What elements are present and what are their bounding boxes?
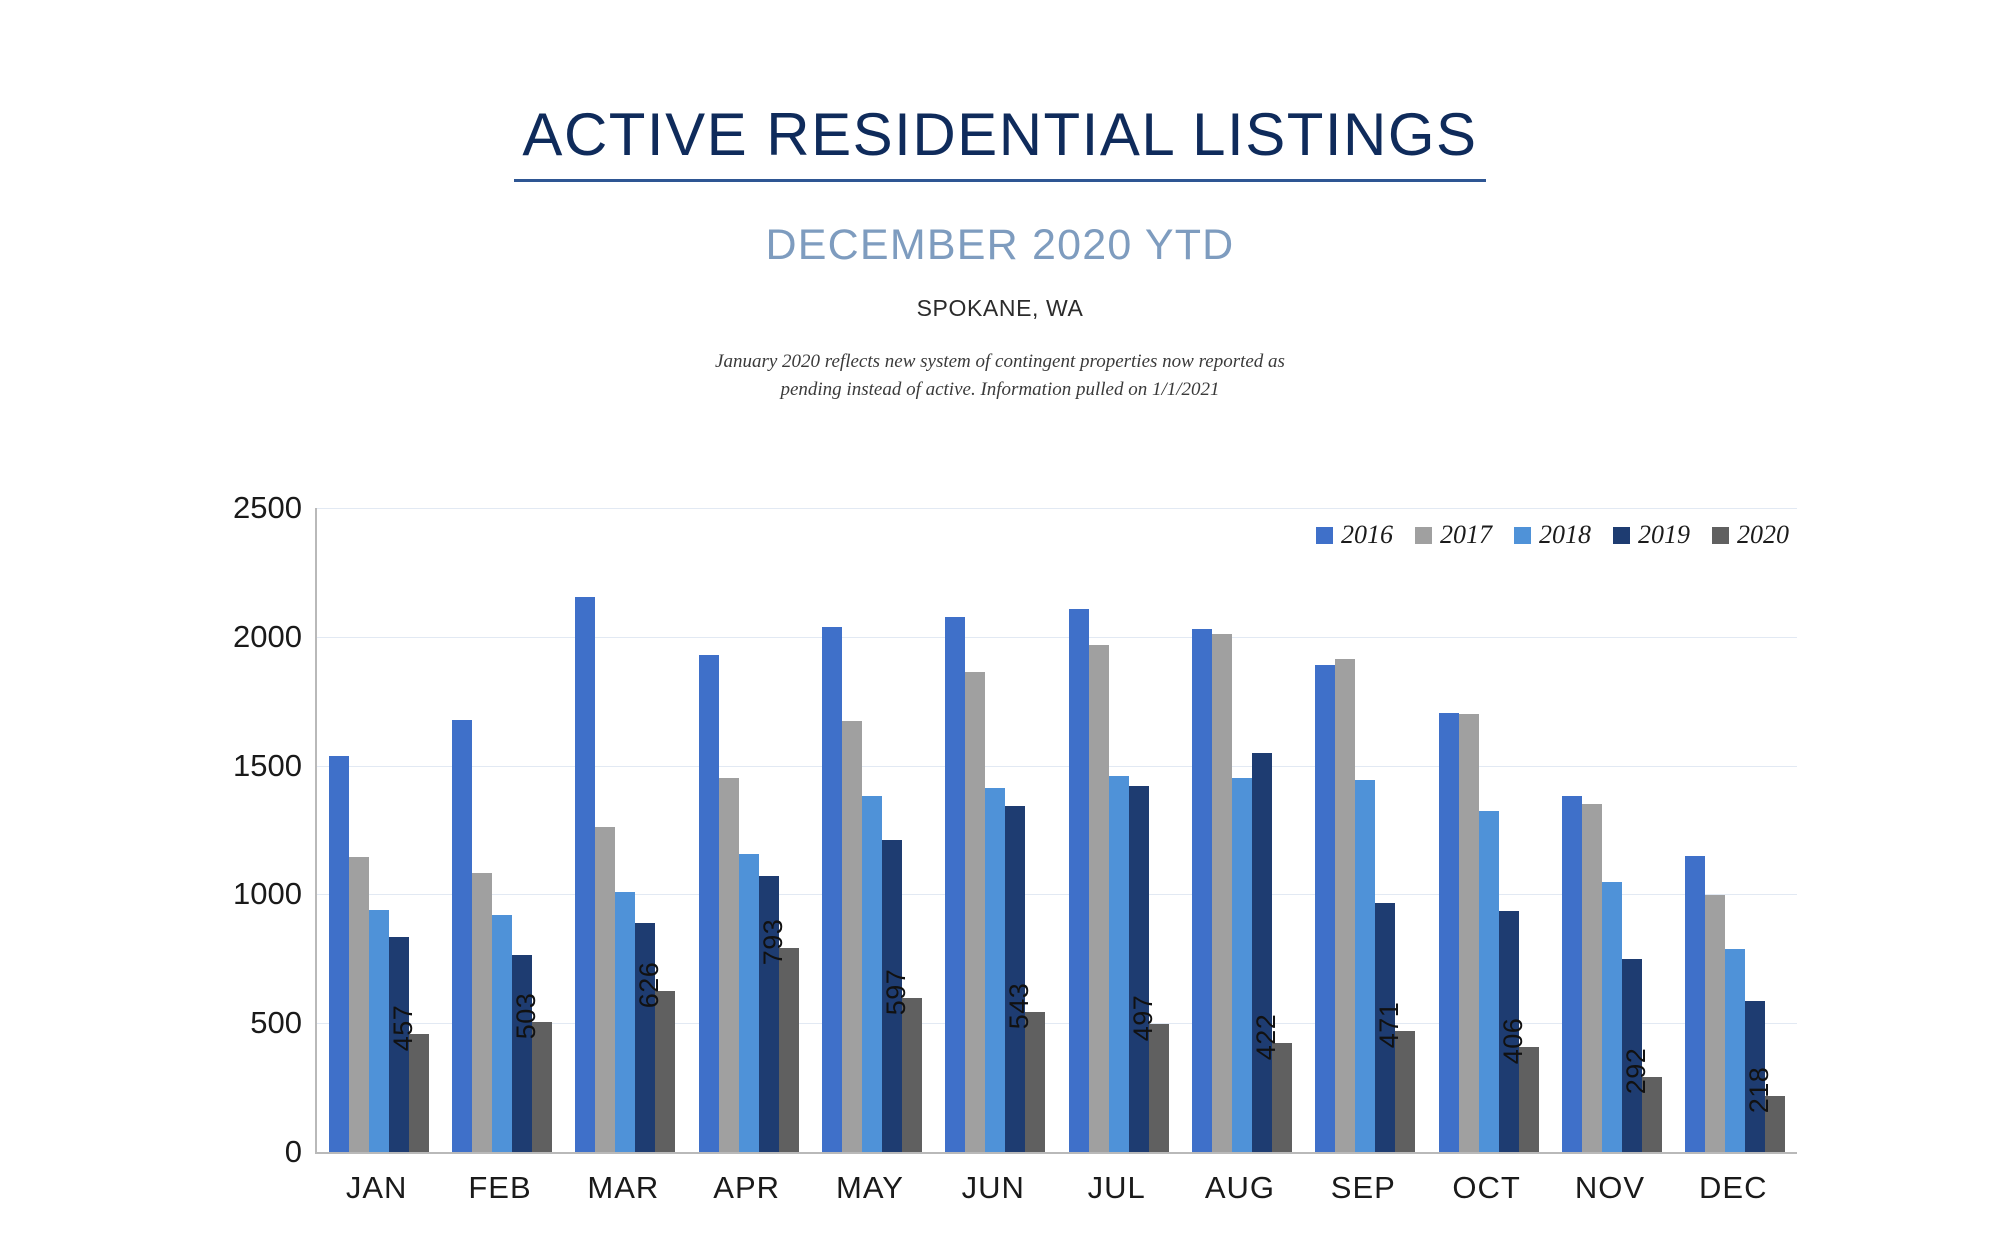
bar-2016-JUN[interactable] [945, 617, 965, 1152]
bar-group: 457 [317, 508, 440, 1152]
bar-2016-FEB[interactable] [452, 720, 472, 1152]
bar-2016-OCT[interactable] [1439, 713, 1459, 1152]
bar-2020-MAR[interactable]: 626 [655, 991, 675, 1152]
bar-2020-DEC[interactable]: 218 [1765, 1096, 1785, 1152]
bar-2017-OCT[interactable] [1459, 714, 1479, 1152]
bar-fill [739, 854, 759, 1152]
bar-fill [1725, 949, 1745, 1153]
bar-data-label: 543 [1004, 983, 1035, 1030]
y-axis-tick-label: 500 [72, 1005, 302, 1041]
bar-fill [615, 892, 635, 1152]
bar-fill [1089, 645, 1109, 1152]
x-axis-label-NOV: NOV [1548, 1170, 1671, 1206]
bar-2020-JUL[interactable]: 497 [1149, 1024, 1169, 1152]
footnote: January 2020 reflects new system of cont… [0, 348, 2000, 403]
bar-2020-FEB[interactable]: 503 [532, 1022, 552, 1152]
y-axis-tick-label: 1000 [72, 876, 302, 912]
bar-2018-NOV[interactable] [1602, 882, 1622, 1152]
y-axis-tick-label: 0 [72, 1134, 302, 1170]
bar-fill [472, 873, 492, 1152]
bar-fill [719, 778, 739, 1152]
bar-group: 471 [1304, 508, 1427, 1152]
bar-2020-APR[interactable]: 793 [779, 948, 799, 1152]
bar-fill [985, 788, 1005, 1153]
bar-fill [1459, 714, 1479, 1152]
bar-fill [1479, 811, 1499, 1152]
bar-fill [492, 915, 512, 1152]
bar-2020-OCT[interactable]: 406 [1519, 1047, 1539, 1152]
bar-2017-AUG[interactable] [1212, 634, 1232, 1152]
bar-2016-APR[interactable] [699, 655, 719, 1152]
bar-2017-DEC[interactable] [1705, 895, 1725, 1152]
bar-2020-JAN[interactable]: 457 [409, 1034, 429, 1152]
bar-fill [779, 948, 799, 1152]
bar-group: 543 [934, 508, 1057, 1152]
bar-data-label: 422 [1251, 1014, 1282, 1061]
bar-group: 218 [1674, 508, 1797, 1152]
location-label: SPOKANE, WA [0, 297, 2000, 320]
bar-2016-MAR[interactable] [575, 597, 595, 1152]
bar-chart: 20162017201820192020 2500200015001000500… [195, 480, 1795, 1200]
bar-2017-SEP[interactable] [1335, 659, 1355, 1152]
bar-2018-JUN[interactable] [985, 788, 1005, 1153]
bar-data-label: 457 [388, 1005, 419, 1052]
bar-fill [1439, 713, 1459, 1152]
bar-2016-NOV[interactable] [1562, 796, 1582, 1152]
bar-fill [1005, 806, 1025, 1152]
bar-2017-MAY[interactable] [842, 721, 862, 1152]
bar-fill [1232, 778, 1252, 1152]
bar-fill [862, 796, 882, 1152]
bar-2018-APR[interactable] [739, 854, 759, 1152]
bar-2016-JUL[interactable] [1069, 609, 1089, 1152]
x-axis-label-SEP: SEP [1302, 1170, 1425, 1206]
bar-fill [902, 998, 922, 1152]
bar-2019-MAR[interactable] [635, 923, 655, 1152]
bar-fill [409, 1034, 429, 1152]
bar-group: 422 [1180, 508, 1303, 1152]
x-axis-label-AUG: AUG [1178, 1170, 1301, 1206]
bar-fill [1149, 1024, 1169, 1152]
bar-2016-DEC[interactable] [1685, 856, 1705, 1152]
bar-2019-AUG[interactable] [1252, 753, 1272, 1152]
x-axis-label-JUN: JUN [932, 1170, 1055, 1206]
bar-2018-JAN[interactable] [369, 910, 389, 1152]
footnote-line-2: pending instead of active. Information p… [0, 376, 2000, 404]
bar-2020-MAY[interactable]: 597 [902, 998, 922, 1152]
bar-2018-OCT[interactable] [1479, 811, 1499, 1152]
bar-data-label: 626 [634, 961, 665, 1008]
bar-group: 793 [687, 508, 810, 1152]
bar-fill [822, 627, 842, 1152]
bar-group: 626 [564, 508, 687, 1152]
bar-2018-FEB[interactable] [492, 915, 512, 1152]
bar-fill [369, 910, 389, 1152]
bar-fill [635, 923, 655, 1152]
bar-2018-SEP[interactable] [1355, 780, 1375, 1152]
x-axis-label-MAR: MAR [562, 1170, 685, 1206]
bar-data-label: 597 [881, 969, 912, 1016]
bar-2016-AUG[interactable] [1192, 629, 1212, 1152]
bar-2020-SEP[interactable]: 471 [1395, 1031, 1415, 1152]
bar-fill [759, 876, 779, 1152]
y-axis-tick-label: 2000 [72, 619, 302, 655]
bar-2017-FEB[interactable] [472, 873, 492, 1152]
bar-data-label: 218 [1744, 1067, 1775, 1114]
bar-fill [1602, 882, 1622, 1152]
bar-fill [1252, 753, 1272, 1152]
bar-groups: 457503626793597543497422471406292218 [317, 508, 1797, 1152]
bar-group: 597 [810, 508, 933, 1152]
bar-2016-JAN[interactable] [329, 756, 349, 1152]
bar-fill [1705, 895, 1725, 1152]
bar-fill [1069, 609, 1089, 1152]
bar-fill [452, 720, 472, 1152]
bar-2019-APR[interactable] [759, 876, 779, 1152]
bar-2018-DEC[interactable] [1725, 949, 1745, 1153]
bar-data-label: 503 [511, 993, 542, 1040]
bar-fill [1025, 1012, 1045, 1152]
bar-fill [532, 1022, 552, 1152]
bar-fill [1192, 629, 1212, 1152]
bar-data-label: 292 [1621, 1048, 1652, 1095]
bar-2018-JUL[interactable] [1109, 776, 1129, 1152]
bar-2018-MAY[interactable] [862, 796, 882, 1152]
bar-fill [1335, 659, 1355, 1152]
bar-fill [655, 991, 675, 1152]
x-axis-label-FEB: FEB [438, 1170, 561, 1206]
bar-2019-JUL[interactable] [1129, 786, 1149, 1152]
x-axis-label-JAN: JAN [315, 1170, 438, 1206]
y-axis-tick-label: 2500 [72, 490, 302, 526]
y-axis-tick-label: 1500 [72, 748, 302, 784]
x-axis-label-JUL: JUL [1055, 1170, 1178, 1206]
bar-2020-NOV[interactable]: 292 [1642, 1077, 1662, 1152]
bar-2017-MAR[interactable] [595, 827, 615, 1152]
bar-fill [1355, 780, 1375, 1152]
bar-2018-MAR[interactable] [615, 892, 635, 1152]
bar-fill [1562, 796, 1582, 1152]
bar-2017-JAN[interactable] [349, 857, 369, 1152]
plot-area: 25002000150010005000 4575036267935975434… [315, 508, 1797, 1154]
x-axis-label-OCT: OCT [1425, 1170, 1548, 1206]
chart-header: ACTIVE RESIDENTIAL LISTINGS DECEMBER 202… [0, 0, 2000, 403]
bar-fill [842, 721, 862, 1152]
subtitle: DECEMBER 2020 YTD [0, 224, 2000, 267]
bar-data-label: 497 [1128, 995, 1159, 1042]
bar-data-label: 406 [1498, 1018, 1529, 1065]
bar-2017-APR[interactable] [719, 778, 739, 1152]
bar-data-label: 793 [758, 918, 789, 965]
bar-2016-SEP[interactable] [1315, 665, 1335, 1152]
bar-fill [512, 955, 532, 1152]
bar-fill [945, 617, 965, 1152]
bar-group: 497 [1057, 508, 1180, 1152]
footnote-line-1: January 2020 reflects new system of cont… [0, 348, 2000, 376]
bar-fill [349, 857, 369, 1152]
bar-2020-AUG[interactable]: 422 [1272, 1043, 1292, 1152]
bar-fill [1685, 856, 1705, 1152]
bar-fill [329, 756, 349, 1152]
bar-fill [575, 597, 595, 1152]
x-axis-label-APR: APR [685, 1170, 808, 1206]
bar-fill [1129, 786, 1149, 1152]
bar-2017-JUN[interactable] [965, 672, 985, 1152]
bar-group: 292 [1550, 508, 1673, 1152]
bar-2020-JUN[interactable]: 543 [1025, 1012, 1045, 1152]
bar-fill [1582, 804, 1602, 1152]
bar-fill [595, 827, 615, 1152]
bar-2018-AUG[interactable] [1232, 778, 1252, 1152]
bar-fill [965, 672, 985, 1152]
bar-fill [1315, 665, 1335, 1152]
bar-fill [1395, 1031, 1415, 1152]
bar-2017-JUL[interactable] [1089, 645, 1109, 1152]
page-title: ACTIVE RESIDENTIAL LISTINGS [514, 104, 1485, 182]
bar-group: 503 [440, 508, 563, 1152]
bar-2019-FEB[interactable] [512, 955, 532, 1152]
bar-2016-MAY[interactable] [822, 627, 842, 1152]
bar-group: 406 [1427, 508, 1550, 1152]
bar-2017-NOV[interactable] [1582, 804, 1602, 1152]
bar-data-label: 471 [1374, 1001, 1405, 1048]
x-axis-label-MAY: MAY [808, 1170, 931, 1206]
x-axis-labels: JANFEBMARAPRMAYJUNJULAUGSEPOCTNOVDEC [315, 1170, 1795, 1206]
bar-fill [699, 655, 719, 1152]
bar-fill [1109, 776, 1129, 1152]
bar-2019-JUN[interactable] [1005, 806, 1025, 1152]
bar-fill [1212, 634, 1232, 1152]
x-axis-label-DEC: DEC [1672, 1170, 1795, 1206]
